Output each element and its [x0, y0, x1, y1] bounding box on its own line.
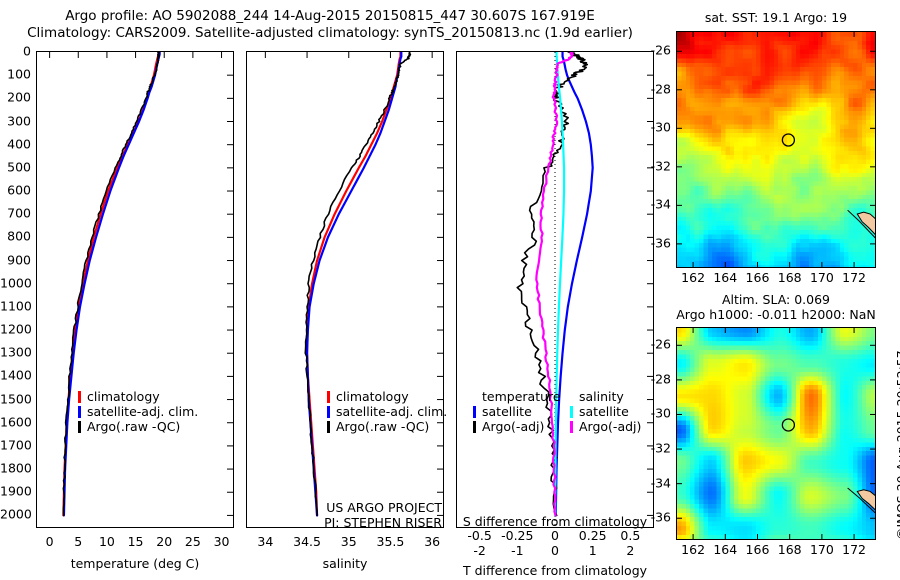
depth-tick-label: 1600 [0, 414, 31, 429]
sst-latitude-tick-label: -32 [636, 158, 671, 173]
depth-tick-label: 600 [0, 183, 31, 198]
difference-legend-temperature-label: Argo(-adj) [482, 419, 544, 434]
sla-latitude-tick-label: -30 [636, 406, 671, 421]
temperature-tick-label: 5 [74, 534, 82, 549]
salinity-difference-tick-label: -0.25 [501, 528, 533, 543]
difference-legend-salinity-label: Argo(-adj) [579, 419, 641, 434]
sst-longitude-tick-label: 166 [746, 270, 770, 285]
depth-tick-label: 1500 [0, 391, 31, 406]
sst-map-image [677, 32, 875, 267]
sst-latitude-tick-label: -26 [636, 43, 671, 58]
salinity-difference-tick-label: 0.5 [620, 528, 640, 543]
depth-tick-label: 400 [0, 136, 31, 151]
depth-tick-label: 1300 [0, 345, 31, 360]
temperature-difference-tick-label: 0 [551, 543, 559, 558]
salinity-axis-title: salinity [323, 556, 368, 571]
sst-latitude-tick-label: -30 [636, 120, 671, 135]
page-title: Argo profile: AO 5902088_244 14-Aug-2015… [0, 8, 660, 42]
difference-legend-salinity-title: salinity [570, 389, 641, 404]
temperature-legend-swatch [78, 421, 81, 433]
temperature-legend-item: satellite-adj. clim. [78, 404, 198, 419]
salinity-legend-item: satellite-adj. clim. [327, 404, 447, 419]
sla-longitude-tick-label: 172 [842, 542, 866, 557]
depth-tick-label: 1200 [0, 322, 31, 337]
sla-latitude-tick-label: -32 [636, 441, 671, 456]
difference-legend-temperature-label: satellite [482, 404, 532, 419]
sla-longitude-tick-label: 164 [713, 542, 737, 557]
temperature-legend-item: climatology [78, 389, 198, 404]
depth-tick-label: 1100 [0, 298, 31, 313]
difference-legend-salinity-item: Argo(-adj) [570, 419, 641, 434]
salinity-legend-swatch [327, 421, 330, 433]
sla-map-image [677, 328, 875, 539]
salinity-legend-swatch [327, 406, 330, 418]
salinity-legend-item: climatology [327, 389, 447, 404]
sla-latitude-tick-label: -36 [636, 510, 671, 525]
temperature-difference-tick-label: -2 [473, 543, 485, 558]
temperature-legend: climatologysatellite-adj. clim.Argo(.raw… [78, 389, 198, 434]
project-credit: US ARGO PROJECT PI: STEPHEN RISER [324, 500, 442, 530]
depth-tick-label: 2000 [0, 507, 31, 522]
sla-latitude-tick-label: -26 [636, 337, 671, 352]
sst-map-title: sat. SST: 19.1 Argo: 19 [676, 10, 876, 25]
difference-legend-temperature-swatch [473, 421, 476, 433]
sla-latitude-tick-label: -34 [636, 475, 671, 490]
sla-longitude-tick-label: 162 [681, 542, 705, 557]
depth-tick-label: 300 [0, 113, 31, 128]
sst-longitude-tick-label: 170 [810, 270, 834, 285]
salinity-difference-tick-label: 0.25 [579, 528, 607, 543]
sla-map-panel[interactable] [676, 327, 876, 540]
depth-tick-label: 500 [0, 159, 31, 174]
temperature-legend-swatch [78, 406, 81, 418]
depth-tick-label: 900 [0, 252, 31, 267]
sla-longitude-tick-label: 170 [810, 542, 834, 557]
sst-latitude-tick-label: -36 [636, 235, 671, 250]
salinity-tick-label: 35.5 [377, 534, 405, 549]
difference-legend-temperature: temperature satelliteArgo(-adj) [473, 389, 561, 434]
temperature-legend-label: satellite-adj. clim. [87, 404, 198, 419]
depth-tick-label: 100 [0, 67, 31, 82]
salinity-difference-tick-label: 0 [551, 528, 559, 543]
title-line-1: Argo profile: AO 5902088_244 14-Aug-2015… [0, 8, 660, 25]
sla-map-title-line-2: Argo h1000: -0.011 h2000: NaN [676, 307, 876, 322]
temperature-tick-label: 15 [128, 534, 144, 549]
sst-latitude-tick-label: -28 [636, 81, 671, 96]
depth-tick-label: 0 [0, 44, 31, 59]
salinity-legend-label: climatology [336, 389, 409, 404]
temperature-difference-tick-label: -1 [511, 543, 523, 558]
depth-tick-label: 800 [0, 229, 31, 244]
sst-longitude-tick-label: 172 [842, 270, 866, 285]
sla-latitude-tick-label: -28 [636, 371, 671, 386]
temperature-difference-axis-title: T difference from climatology [463, 563, 647, 578]
title-line-2: Climatology: CARS2009. Satellite-adjuste… [0, 25, 660, 42]
difference-legend-temperature-swatch [473, 406, 476, 418]
difference-profile-plot [457, 52, 653, 527]
sla-longitude-tick-label: 168 [778, 542, 802, 557]
difference-legend-salinity-label: satellite [579, 404, 629, 419]
temperature-legend-label: climatology [87, 389, 160, 404]
salinity-legend: climatologysatellite-adj. clim.Argo(.raw… [327, 389, 447, 434]
difference-legend-salinity: salinity satelliteArgo(-adj) [570, 389, 641, 434]
sst-longitude-tick-label: 162 [681, 270, 705, 285]
temperature-difference-tick-label: 2 [626, 543, 634, 558]
salinity-difference-axis-title: S difference from climatology [463, 514, 647, 529]
salinity-legend-item: Argo(.raw -QC) [327, 419, 447, 434]
depth-tick-label: 1700 [0, 437, 31, 452]
sst-map-panel[interactable] [676, 31, 876, 268]
copyright-text: ©IMOS 20-Aug-2015 20:52:57 [894, 350, 900, 540]
salinity-tick-label: 36 [424, 534, 440, 549]
difference-legend-temperature-title: temperature [473, 389, 561, 404]
temperature-difference-tick-label: 1 [589, 543, 597, 558]
salinity-profile-plot [247, 52, 443, 527]
temperature-tick-label: 20 [156, 534, 172, 549]
salinity-profile-panel[interactable] [246, 51, 444, 528]
salinity-legend-label: satellite-adj. clim. [336, 404, 447, 419]
sst-latitude-tick-label: -34 [636, 197, 671, 212]
project-name: US ARGO PROJECT [324, 500, 442, 515]
salinity-difference-tick-label: -0.5 [467, 528, 491, 543]
depth-tick-label: 1400 [0, 368, 31, 383]
temperature-tick-label: 0 [46, 534, 54, 549]
temperature-legend-swatch [78, 391, 81, 403]
difference-legend-temperature-item: Argo(-adj) [473, 419, 561, 434]
sla-longitude-tick-label: 166 [746, 542, 770, 557]
salinity-legend-label: Argo(.raw -QC) [336, 419, 429, 434]
principal-investigator: PI: STEPHEN RISER [324, 515, 442, 530]
salinity-legend-swatch [327, 391, 330, 403]
salinity-tick-label: 35 [341, 534, 357, 549]
temperature-legend-label: Argo(.raw -QC) [87, 419, 180, 434]
temperature-tick-label: 10 [99, 534, 115, 549]
temperature-profile-plot [37, 52, 233, 527]
difference-legend-salinity-swatch [570, 406, 573, 418]
depth-tick-label: 200 [0, 90, 31, 105]
salinity-tick-label: 34 [257, 534, 273, 549]
depth-tick-label: 1800 [0, 461, 31, 476]
difference-legend-salinity-item: satellite [570, 404, 641, 419]
sla-map-title: Altim. SLA: 0.069 Argo h1000: -0.011 h20… [676, 292, 876, 322]
temperature-tick-label: 30 [214, 534, 230, 549]
temperature-axis-title: temperature (deg C) [71, 556, 200, 571]
sst-longitude-tick-label: 164 [713, 270, 737, 285]
difference-legend-temperature-item: satellite [473, 404, 561, 419]
depth-tick-label: 1000 [0, 275, 31, 290]
sst-longitude-tick-label: 168 [778, 270, 802, 285]
temperature-legend-item: Argo(.raw -QC) [78, 419, 198, 434]
temperature-profile-panel[interactable] [36, 51, 234, 528]
depth-tick-label: 1900 [0, 484, 31, 499]
sla-map-title-line-1: Altim. SLA: 0.069 [676, 292, 876, 307]
temperature-tick-label: 25 [185, 534, 201, 549]
depth-tick-label: 700 [0, 206, 31, 221]
salinity-tick-label: 34.5 [293, 534, 321, 549]
difference-legend-salinity-swatch [570, 421, 573, 433]
difference-profile-panel[interactable] [456, 51, 654, 528]
